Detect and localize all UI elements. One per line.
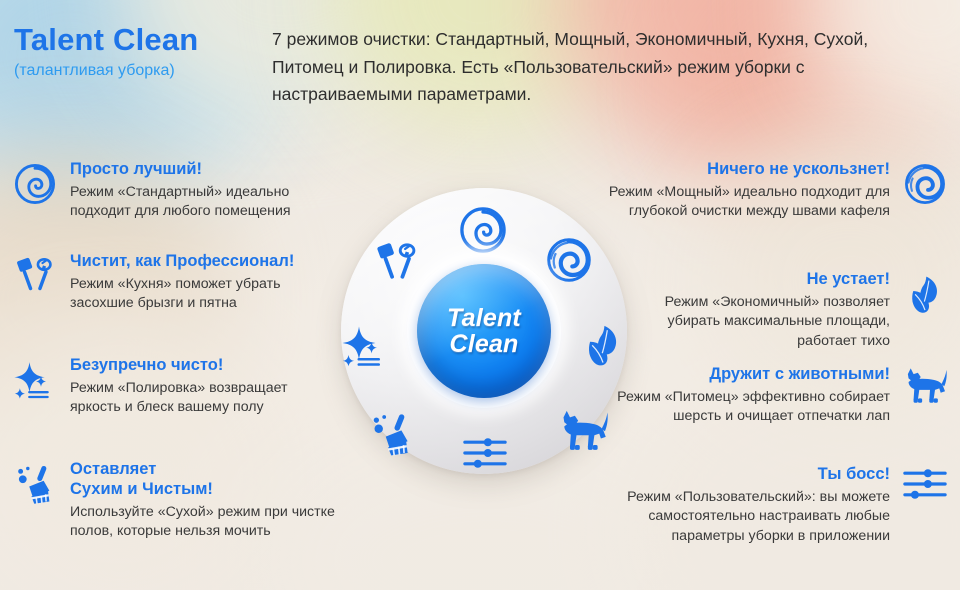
- feature-body: Режим «Пользовательский»: вы можете само…: [596, 488, 890, 547]
- badge-text: Talent Clean: [447, 305, 521, 358]
- feature-title: Дружит с животными!: [608, 365, 890, 385]
- feature-title: Чистит, как Профессионал!: [70, 252, 312, 272]
- leaf-icon: [902, 272, 948, 318]
- feature-title: Ничего не ускользнет!: [596, 160, 890, 180]
- feature-power: Ничего не ускользнет! Режим «Мощный» иде…: [596, 160, 948, 222]
- feature-custom: Ты босс! Режим «Пользовательский»: вы мо…: [596, 465, 948, 547]
- ring-broom-icon: [365, 408, 419, 462]
- brand-subtitle: (талантливая уборка): [14, 63, 264, 79]
- intro-paragraph: 7 режимов очистки: Стандартный, Мощный, …: [272, 26, 944, 109]
- ring-spiral-outline-icon: [455, 202, 511, 258]
- feature-title: Безупречно чисто!: [70, 356, 327, 376]
- feature-title: Ты босс!: [596, 465, 890, 485]
- feature-title: Не устает!: [618, 270, 890, 290]
- feature-text: Оставляет Сухим и Чистым! Используйте «С…: [70, 460, 364, 542]
- feature-body: Используйте «Сухой» режим при чистке пол…: [70, 503, 364, 542]
- feature-text: Ты босс! Режим «Пользовательский»: вы мо…: [596, 465, 890, 547]
- feature-text: Безупречно чисто! Режим «Полировка» возв…: [70, 356, 327, 418]
- sliders-icon: [902, 467, 948, 513]
- ring-leaf-icon: [577, 320, 629, 372]
- feature-standard: Просто лучший! Режим «Стандартный» идеал…: [12, 160, 342, 222]
- feature-dry: Оставляет Сухим и Чистым! Используйте «С…: [12, 460, 364, 542]
- feature-title: Просто лучший!: [70, 160, 342, 180]
- feature-text: Дружит с животными! Режим «Питомец» эффе…: [608, 365, 890, 427]
- badge-logo-line2: Clean: [447, 331, 521, 358]
- feature-text: Просто лучший! Режим «Стандартный» идеал…: [70, 160, 342, 222]
- spiral-outline-icon: [12, 162, 58, 208]
- ring-sliders-icon: [461, 433, 509, 473]
- feature-text: Ничего не ускользнет! Режим «Мощный» иде…: [596, 160, 890, 222]
- feature-title: Оставляет Сухим и Чистым!: [70, 460, 364, 500]
- feature-text: Чистит, как Профессионал! Режим «Кухня» …: [70, 252, 312, 314]
- sparkle-icon: [12, 358, 58, 404]
- badge-logo-line1: Talent: [447, 305, 521, 332]
- dog-icon: [902, 367, 948, 413]
- ring-sparkle-icon: [339, 320, 391, 372]
- ring-utensils-icon: [371, 236, 423, 288]
- feature-body: Режим «Полировка» возвращает яркость и б…: [70, 379, 327, 418]
- utensils-icon: [12, 254, 58, 300]
- center-wheel: Talent Clean: [333, 178, 633, 500]
- feature-kitchen: Чистит, как Профессионал! Режим «Кухня» …: [12, 252, 312, 314]
- feature-pet: Дружит с животными! Режим «Питомец» эффе…: [608, 365, 948, 427]
- ring-spiral-filled-icon: [543, 234, 595, 286]
- feature-polish: Безупречно чисто! Режим «Полировка» возв…: [12, 356, 327, 418]
- feature-body: Режим «Питомец» эффективно собирает шерс…: [608, 388, 890, 427]
- feature-eco: Не устает! Режим «Экономичный» позволяет…: [618, 270, 948, 352]
- feature-title-line1: Оставляет: [70, 460, 364, 480]
- broom-icon: [12, 462, 58, 508]
- header: Talent Clean (талантливая уборка) 7 режи…: [0, 0, 960, 125]
- brand-block: Talent Clean (талантливая уборка): [14, 24, 264, 79]
- infographic-stage: Talent Clean (талантливая уборка) 7 режи…: [0, 0, 960, 590]
- feature-body: Режим «Экономичный» позволяет убирать ма…: [618, 293, 890, 352]
- brand-badge: Talent Clean: [417, 264, 551, 398]
- feature-body: Режим «Стандартный» идеально подходит дл…: [70, 183, 342, 222]
- spiral-filled-icon: [902, 162, 948, 208]
- ring-dog-icon: [555, 406, 611, 458]
- feature-body: Режим «Мощный» идеально подходит для глу…: [596, 183, 890, 222]
- feature-text: Не устает! Режим «Экономичный» позволяет…: [618, 270, 890, 352]
- feature-title-line2: Сухим и Чистым!: [70, 480, 364, 500]
- feature-body: Режим «Кухня» поможет убрать засохшие бр…: [70, 275, 312, 314]
- brand-name: Talent Clean: [14, 24, 264, 55]
